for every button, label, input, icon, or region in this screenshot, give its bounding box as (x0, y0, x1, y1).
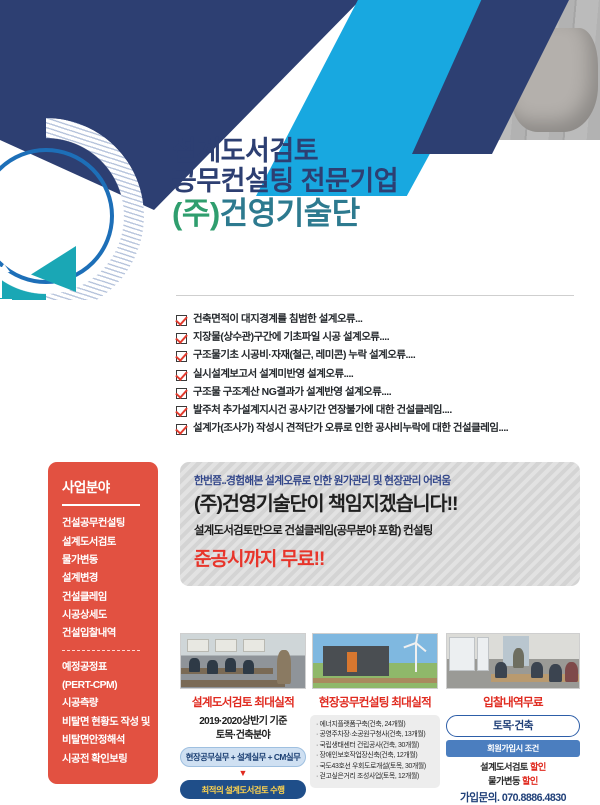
badge-membership-condition: 회원가입시 조건 (446, 740, 580, 757)
list-item: 구조물기초 시공비·자재(철근, 레미콘) 누락 설계오류.... (176, 349, 580, 362)
sidebar-item-survey[interactable]: 시공측량 (48, 695, 158, 713)
sidebar-item-slope-map[interactable]: 비탈면 현황도 작성 및 (48, 713, 158, 731)
list-item: · 공영주차장·소공원구청사(건축, 13개월) (316, 730, 434, 740)
sidebar-item-design-review[interactable]: 설계도서검토 (48, 533, 158, 551)
sidebar-item-pre-boring[interactable]: 시공전 확인보링 (48, 750, 158, 768)
promo-kicker: 한번쯤..경험해본 설계오류로 인한 원가관리 및 현장관리 어려움 (194, 473, 580, 488)
column-1-sub-line2: 토목·건축분야 (216, 730, 270, 741)
checklist-text: 구조물 구조계산 NG결과가 설계반영 설계오류.... (193, 386, 391, 399)
list-item: 지장물(상수관)구간에 기초파일 시공 설계오류.... (176, 331, 580, 344)
check-icon (176, 315, 187, 326)
discount-line-1: 설계도서검토 할인 (446, 761, 580, 775)
check-icon (176, 370, 187, 381)
list-item: · 장애인보호작업장신축(건축, 12개월) (316, 751, 434, 761)
process-cycle-graphic (0, 118, 144, 300)
photo-office-meeting (446, 633, 580, 689)
list-item: 구조물 구조계산 NG결과가 설계반영 설계오류.... (176, 386, 580, 399)
promo-subline: 설계도서검토만으로 건설클레임(공무분야 포함) 컨설팅 (194, 522, 580, 538)
contact-phone-number[interactable]: 가입문의. 070.8886.4830 (446, 790, 580, 805)
title-line-2: 공무컨설팅 전문기업 (172, 166, 584, 196)
title-line-3: (주)건영기술단 (172, 197, 584, 232)
sidebar-title: 사업분야 (48, 476, 158, 496)
check-icon (176, 424, 187, 435)
growth-bar-chart-icon (0, 262, 16, 300)
sidebar-item-construction-claim[interactable]: 건설클레임 (48, 588, 158, 606)
column-1-sub-line1: 2019·2020상반기 기준 (199, 716, 287, 727)
sidebar-divider (62, 504, 140, 506)
title-line-1: 설계도서검토 (172, 136, 584, 166)
sidebar-item-bid-breakdown[interactable]: 건설입찰내역 (48, 625, 158, 643)
column-field-consulting-record: 현장공무컨설팅 최대실적 · 에너지플랫폼구축(건축, 24개월) · 공영주차… (310, 694, 440, 788)
arrow-down-icon: ▼ (180, 769, 306, 778)
photo-gallery (180, 633, 580, 689)
project-list: · 에너지플랫폼구축(건축, 24개월) · 공영주차장·소공원구청사(건축, … (310, 715, 440, 788)
checklist-text: 발주처 추가설계지시건 공사기간 연장불가에 대한 건설클레임.... (193, 404, 452, 417)
page-title: 설계도서검토 공무컨설팅 전문기업 (주)건영기술단 (172, 136, 584, 232)
photo-building-wind-turbine (312, 633, 438, 689)
promo-banner: 한번쯤..경험해본 설계오류로 인한 원가관리 및 현장관리 어려움 (주)건영… (180, 462, 580, 586)
discount-2-label: 물가변동 (488, 776, 522, 786)
check-icon (176, 388, 187, 399)
check-icon (176, 351, 187, 362)
error-checklist: 건축면적이 대지경계를 침범한 설계오류... 지장물(상수관)구간에 기초파일… (176, 313, 580, 440)
list-item: · 국립생태센터 건립공사(건축, 30개월) (316, 741, 434, 751)
list-item: 설계가(조사가) 작성시 견적단가 오류로 인한 공사비누락에 대한 건설클레임… (176, 422, 580, 435)
badge-practice-areas: 현장공무실무 + 설계실무 + CM실무 (180, 747, 306, 767)
sidebar-dashed-divider (62, 650, 140, 651)
column-1-subtext: 2019·2020상반기 기준 토목·건축분야 (180, 715, 306, 742)
list-item: · 국도43호선 우회도로개설(토목, 30개월) (316, 762, 434, 772)
promo-free-offer: 준공시까지 무료!! (194, 544, 580, 571)
checklist-text: 건축면적이 대지경계를 침범한 설계오류... (193, 313, 362, 326)
discount-2-value: 할인 (522, 776, 538, 786)
title-company-prefix: (주) (172, 196, 220, 231)
column-design-review-record: 설계도서검토 최대실적 2019·2020상반기 기준 토목·건축분야 현장공무… (180, 694, 306, 799)
discount-1-label: 설계도서검토 (480, 762, 530, 772)
column-1-heading: 설계도서검토 최대실적 (180, 694, 306, 710)
promo-headline: (주)건영기술단이 책임지겠습니다!! (194, 494, 580, 515)
checklist-text: 실시설계보고서 설계미반영 설계오류.... (193, 368, 353, 381)
discount-line-2: 물가변동 할인 (446, 775, 580, 789)
title-divider (176, 295, 574, 296)
discount-1-value: 할인 (530, 762, 546, 772)
checklist-text: 설계가(조사가) 작성시 견적단가 오류로 인한 공사비누락에 대한 건설클레임… (193, 422, 508, 435)
sidebar-item-design-change[interactable]: 설계변경 (48, 570, 158, 588)
list-item: 실시설계보고서 설계미반영 설계오류.... (176, 368, 580, 381)
check-icon (176, 406, 187, 417)
title-company-name: 건영기술단 (220, 196, 360, 231)
list-item: · 에너지플랫폼구축(건축, 24개월) (316, 720, 434, 730)
business-areas-sidebar: 사업분야 건설공무컨설팅 설계도서검토 물가변동 설계변경 건설클레임 시공상세… (48, 462, 158, 784)
sidebar-item-price-fluctuation[interactable]: 물가변동 (48, 551, 158, 569)
column-3-heading: 입찰내역무료 (446, 694, 580, 710)
sidebar-item-slope-analysis[interactable]: 비탈면안정해석 (48, 732, 158, 750)
badge-civil-architecture: 토목·건축 (446, 715, 580, 737)
list-item: · 걷고싶은거리 조성사업(토목, 12개월) (316, 772, 434, 782)
photo-classroom-training (180, 633, 306, 689)
sidebar-item-shop-drawing[interactable]: 시공상세도 (48, 606, 158, 624)
list-item: 발주처 추가설계지시건 공사기간 연장불가에 대한 건설클레임.... (176, 404, 580, 417)
check-icon (176, 333, 187, 344)
sidebar-item-pert-cpm[interactable]: (PERT-CPM) (48, 676, 158, 694)
column-free-bid-breakdown: 입찰내역무료 토목·건축 회원가입시 조건 설계도서검토 할인 물가변동 할인 … (446, 694, 580, 805)
list-item: 건축면적이 대지경계를 침범한 설계오류... (176, 313, 580, 326)
sidebar-item-construction-consulting[interactable]: 건설공무컨설팅 (48, 515, 158, 533)
column-2-heading: 현장공무컨설팅 최대실적 (310, 694, 440, 710)
growth-arrow-icon (0, 262, 16, 300)
sidebar-item-schedule-chart[interactable]: 예정공정표 (48, 658, 158, 676)
checklist-text: 지장물(상수관)구간에 기초파일 시공 설계오류.... (193, 331, 389, 344)
badge-optimal-review: 최적의 설계도서검토 수행 (180, 780, 306, 798)
checklist-text: 구조물기초 시공비·자재(철근, 레미콘) 누락 설계오류.... (193, 349, 415, 362)
